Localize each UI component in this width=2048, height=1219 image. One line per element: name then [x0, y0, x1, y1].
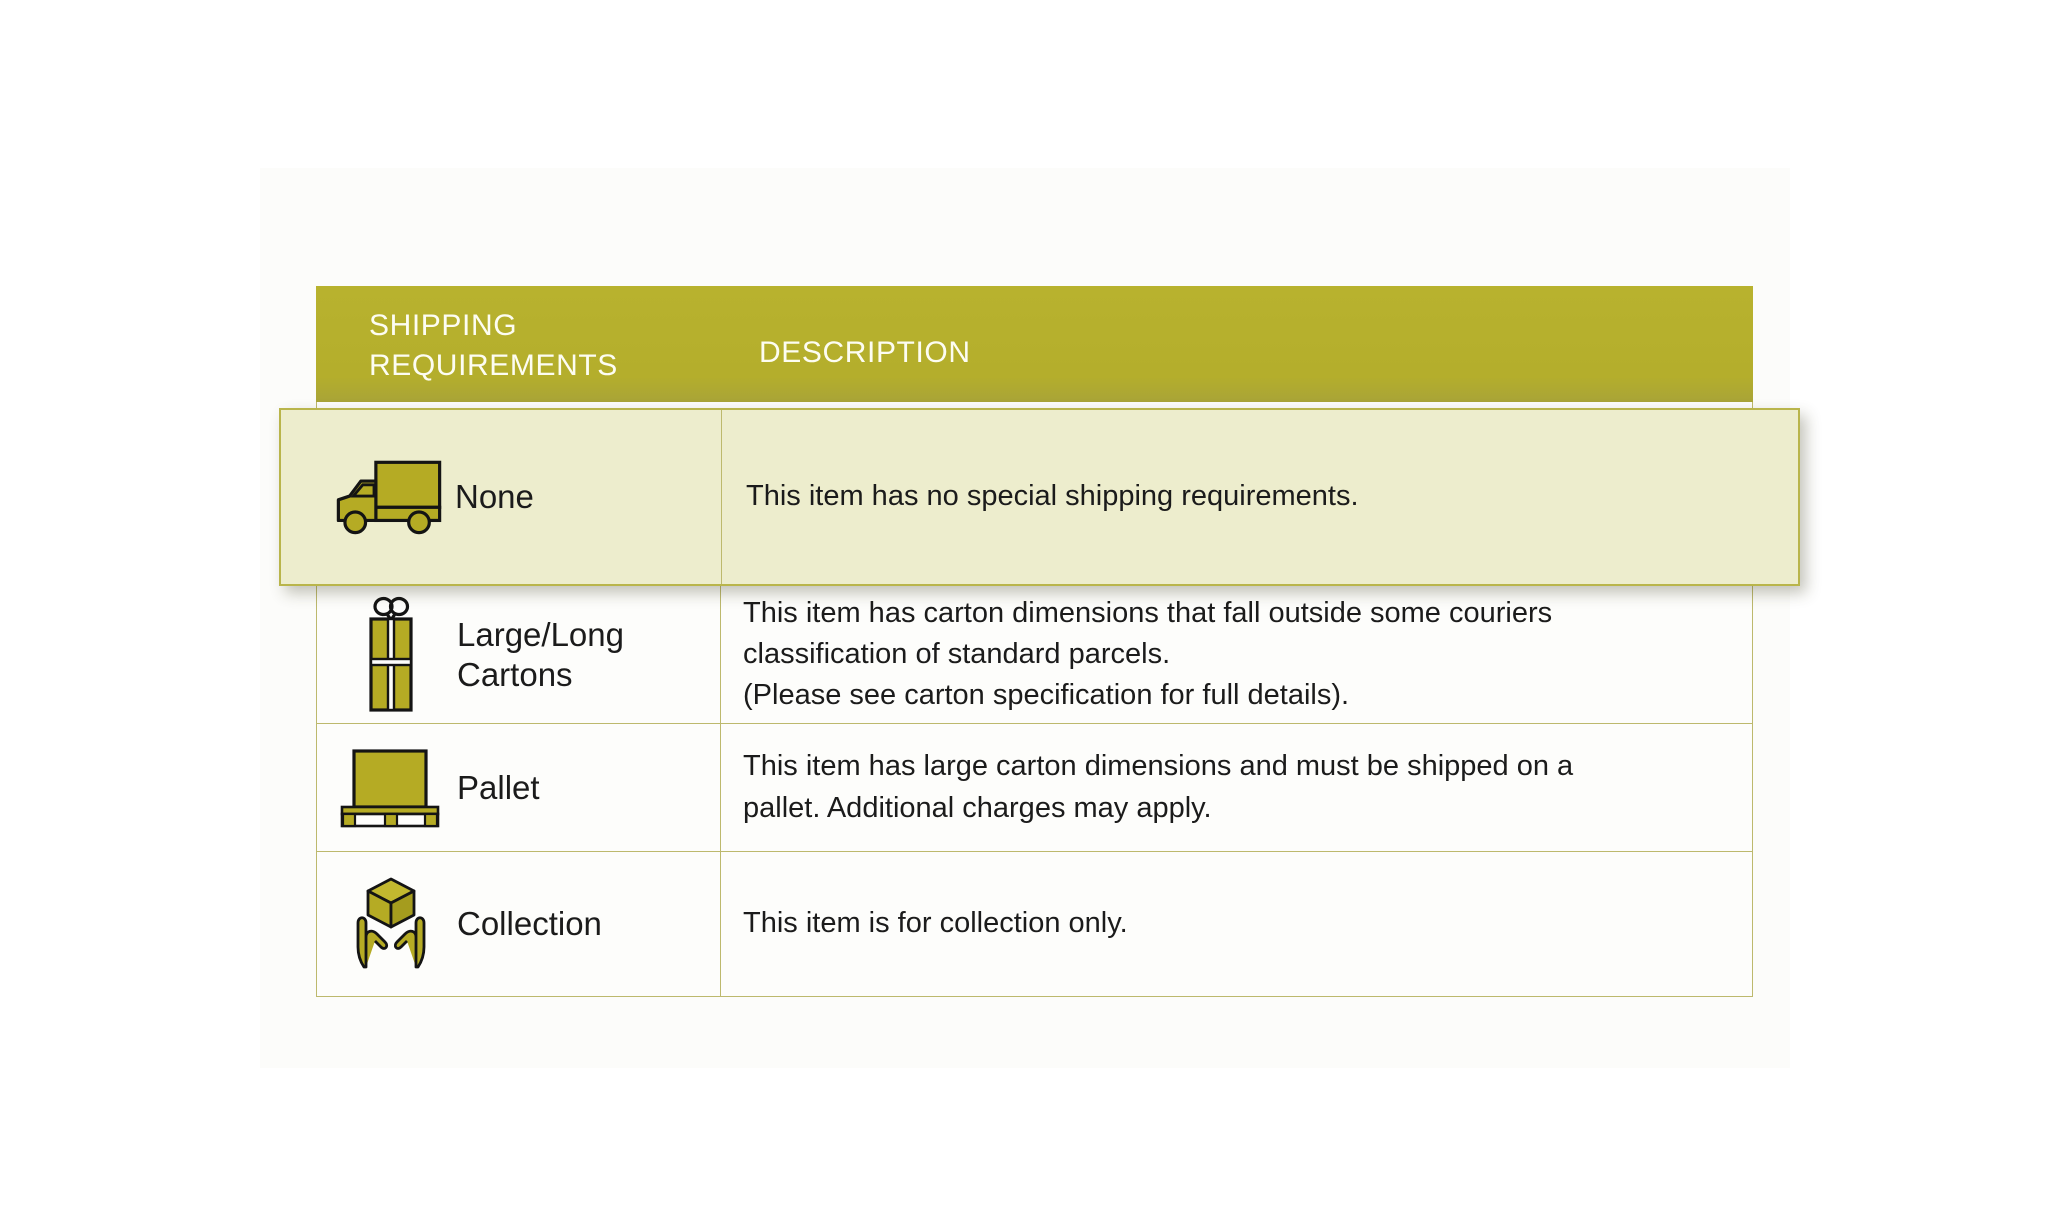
description-line: This item has no special shipping requir… — [746, 476, 1359, 517]
row-label: Pallet — [451, 768, 540, 808]
row-description-cell: This item has large carton dimensions an… — [721, 724, 1752, 851]
table-row[interactable]: Large/Long Cartons This item has carton … — [317, 586, 1752, 724]
row-label-cell: None — [281, 410, 722, 584]
table-row[interactable]: Pallet This item has large carton dimens… — [317, 724, 1752, 852]
row-label-cell: Large/Long Cartons — [317, 586, 721, 723]
description-line: This item has carton dimensions that fal… — [743, 593, 1552, 634]
slide-canvas: SHIPPING REQUIREMENTS DESCRIPTION None T… — [0, 0, 2048, 1219]
row-description-cell: This item has no special shipping requir… — [722, 410, 1798, 584]
column-header-description: DESCRIPTION — [759, 333, 971, 373]
pallet-icon — [331, 747, 451, 829]
highlighted-table-row-none[interactable]: None This item has no special shipping r… — [279, 408, 1800, 586]
row-description: This item is for collection only. — [743, 903, 1128, 944]
hands-holding-box-icon — [331, 875, 451, 973]
description-line: This item has large carton dimensions an… — [743, 746, 1573, 787]
row-label-line2: Cartons — [457, 656, 573, 693]
row-description-cell: This item has carton dimensions that fal… — [721, 586, 1752, 723]
delivery-truck-icon — [329, 454, 449, 540]
row-description: This item has no special shipping requir… — [746, 476, 1359, 517]
row-label: Large/Long Cartons — [451, 615, 624, 694]
row-label: None — [449, 477, 534, 517]
row-description: This item has large carton dimensions an… — [743, 746, 1573, 828]
row-description: This item has carton dimensions that fal… — [743, 593, 1552, 717]
tall-gift-carton-icon — [331, 596, 451, 714]
row-label-cell: Pallet — [317, 724, 721, 851]
row-description-cell: This item is for collection only. — [721, 852, 1752, 996]
table-header-row: SHIPPING REQUIREMENTS DESCRIPTION — [316, 286, 1753, 402]
column-header-shipping-line1: SHIPPING — [369, 306, 699, 346]
description-line: (Please see carton specification for ful… — [743, 675, 1552, 716]
row-label-cell: Collection — [317, 852, 721, 996]
row-label-line1: Large/Long — [457, 616, 624, 653]
description-line: This item is for collection only. — [743, 903, 1128, 944]
column-header-shipping-requirements: SHIPPING REQUIREMENTS — [369, 306, 699, 386]
description-line: pallet. Additional charges may apply. — [743, 788, 1573, 829]
description-line: classification of standard parcels. — [743, 634, 1552, 675]
row-label: Collection — [451, 904, 602, 944]
shipping-requirements-table: SHIPPING REQUIREMENTS DESCRIPTION None T… — [316, 286, 1753, 997]
column-header-shipping-line2: REQUIREMENTS — [369, 346, 699, 386]
table-row[interactable]: Collection This item is for collection o… — [317, 852, 1752, 996]
